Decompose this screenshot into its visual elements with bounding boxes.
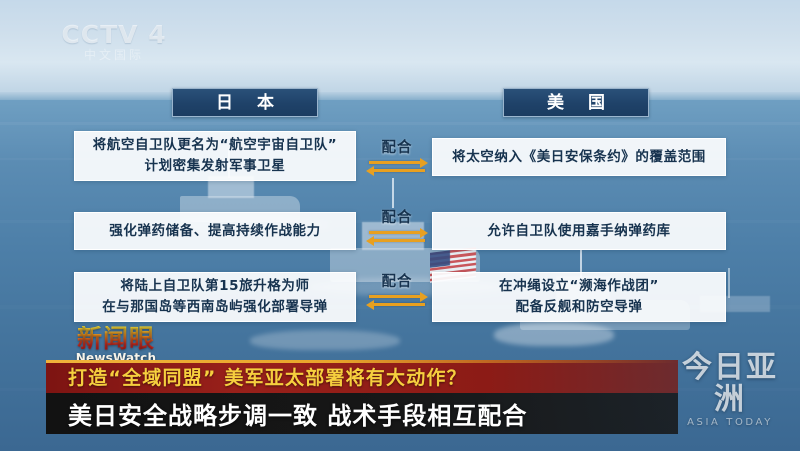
usa-measure-line1: 在冲绳设立“濒海作战团”	[499, 278, 659, 294]
japan-measure-box: 将航空自卫队更名为“航空宇宙自卫队” 计划密集发射军事卫星	[74, 131, 356, 181]
japan-measure-box: 将陆上自卫队第15旅升格为师 在与那国岛等西南岛屿强化部署导弹	[74, 272, 356, 322]
usa-measure-line2: 配备反舰和防空导弹	[516, 299, 643, 315]
arrow-left-icon	[373, 239, 425, 242]
connector-cooperation: 配合	[366, 209, 428, 246]
usa-measure-box: 在冲绳设立“濒海作战团” 配备反舰和防空导弹	[432, 272, 726, 322]
japan-measure-box: 强化弹药储备、提高持续作战能力	[74, 212, 356, 250]
bidirectional-arrows	[366, 159, 428, 176]
usa-measure-line1: 将太空纳入《美日安保条约》的覆盖范围	[452, 147, 706, 168]
arrow-right-icon	[369, 161, 421, 164]
usa-measure-line1: 允许自卫队使用嘉手纳弹药库	[487, 221, 670, 242]
background-sky	[0, 0, 800, 96]
arrow-right-icon	[369, 231, 421, 234]
subheadline-banner: 美日安全战略步调一致 战术手段相互配合	[46, 393, 678, 434]
column-header-japan: 日 本	[172, 88, 318, 117]
connector-label: 配合	[366, 139, 428, 157]
headline-banner: 打造“全域同盟” 美军亚太部署将有大动作？	[46, 360, 678, 393]
arrow-left-icon	[373, 169, 425, 172]
japan-measure-line1: 强化弹药储备、提高持续作战能力	[109, 221, 321, 242]
japan-measure-line1: 将陆上自卫队第15旅升格为师	[120, 278, 309, 294]
japan-measure-line2: 在与那国岛等西南岛屿强化部署导弹	[102, 299, 328, 315]
broadcast-screen: CCTV 4 中文国际 日 本 美 国 将航空自卫队更名为“航空宇宙自卫队” 计…	[0, 0, 800, 451]
connector-label: 配合	[366, 209, 428, 227]
connector-label: 配合	[366, 273, 428, 291]
arrow-left-icon	[373, 303, 425, 306]
japan-measure-line2: 计划密集发射军事卫星	[144, 158, 285, 174]
bidirectional-arrows	[366, 229, 428, 246]
arrow-right-icon	[369, 295, 421, 298]
japan-measure-line1: 将航空自卫队更名为“航空宇宙自卫队”	[93, 137, 338, 153]
subheadline-text: 美日安全战略步调一致 战术手段相互配合	[46, 396, 527, 431]
connector-cooperation: 配合	[366, 139, 428, 176]
connector-cooperation: 配合	[366, 273, 428, 310]
usa-measure-box: 允许自卫队使用嘉手纳弹药库	[432, 212, 726, 250]
usa-measure-box: 将太空纳入《美日安保条约》的覆盖范围	[432, 138, 726, 176]
bidirectional-arrows	[366, 293, 428, 310]
column-header-usa: 美 国	[503, 88, 649, 117]
headline-text: 打造“全域同盟” 美军亚太部署将有大动作？	[46, 363, 467, 390]
